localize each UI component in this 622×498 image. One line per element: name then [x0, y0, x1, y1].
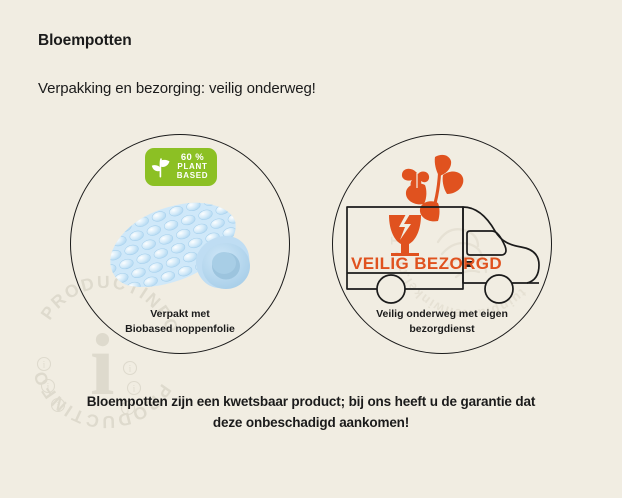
page-subtitle: Verpakking en bezorging: veilig onderweg… — [38, 80, 316, 97]
broken-glass-icon — [389, 214, 421, 256]
footer-line2: deze onbeschadigd aankomen! — [34, 413, 588, 434]
svg-text:i: i — [47, 382, 50, 392]
packaging-circle: 60 % PLANT BASED — [70, 134, 290, 354]
svg-text:i: i — [129, 364, 132, 374]
packaging-caption: Verpakt met Biobased noppenfolie — [71, 307, 289, 337]
delivery-caption-line2: bezorgdienst — [333, 322, 551, 337]
delivery-van-illustration: VEILIG BEZORGD — [339, 145, 549, 310]
plant-based-line2: BASED — [172, 172, 213, 181]
footer-message: Bloempotten zijn een kwetsbaar product; … — [0, 392, 622, 434]
product-info-infographic: PRODUCTINFO PRODUCTINFO i i i i i i — [0, 0, 622, 498]
bubble-wrap-illustration — [85, 193, 281, 303]
plant-based-badge-text: 60 % PLANT BASED — [171, 153, 213, 182]
footer-line1: Bloempotten zijn een kwetsbaar product; … — [34, 392, 588, 413]
page-title: Bloempotten — [38, 32, 132, 50]
delivery-circle: VEILIG BEZORGD Veilig onderweg met eigen… — [332, 134, 552, 354]
delivery-caption: Veilig onderweg met eigen bezorgdienst — [333, 307, 551, 337]
packaging-caption-line1: Verpakt met — [71, 307, 289, 322]
leaf-icon — [150, 155, 171, 179]
leaf-butterfly-icon — [402, 155, 463, 221]
plant-based-badge: 60 % PLANT BASED — [145, 148, 217, 186]
van-panel-text: VEILIG BEZORGD — [351, 254, 502, 273]
packaging-caption-line2: Biobased noppenfolie — [71, 322, 289, 337]
delivery-caption-line1: Veilig onderweg met eigen — [333, 307, 551, 322]
svg-text:i: i — [43, 360, 46, 370]
